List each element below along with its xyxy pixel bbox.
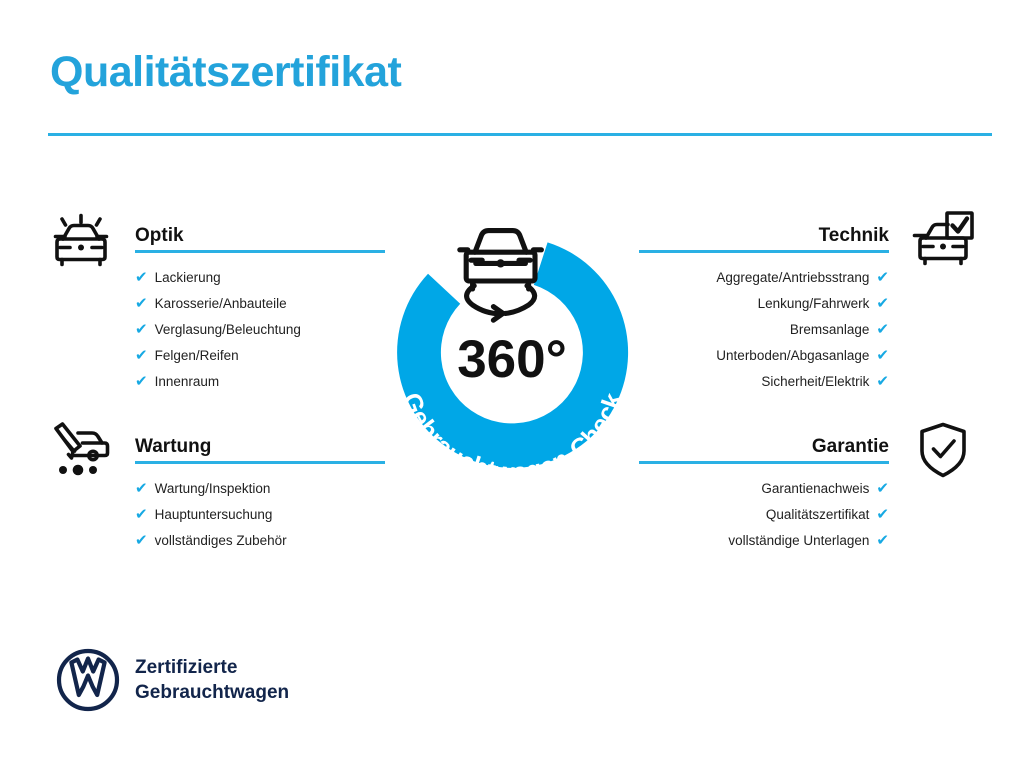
section-optik: Optik✔Lackierung✔Karosserie/Anbauteile✔V… — [48, 209, 413, 395]
check-icon: ✔ — [876, 348, 889, 363]
vw-wordmark-line2: Gebrauchtwagen — [135, 680, 289, 705]
section-title-garantie: Garantie — [812, 436, 889, 458]
list-item-label: Lenkung/Fahrwerk — [758, 297, 870, 311]
section-title-technik: Technik — [819, 225, 889, 247]
check-icon: ✔ — [876, 322, 889, 337]
check-icon: ✔ — [876, 507, 889, 522]
checklist-optik: ✔Lackierung✔Karosserie/Anbauteile✔Vergla… — [48, 264, 413, 395]
check-icon: ✔ — [135, 296, 148, 311]
header-divider — [48, 133, 992, 136]
certificate-page: Qualitätszertifikat Optik✔Lackierung✔Kar… — [0, 0, 1024, 768]
vw-wordmark: Zertifizierte Gebrauchtwagen — [135, 655, 289, 705]
list-item-label: Felgen/Reifen — [155, 349, 239, 363]
list-item-label: Aggregate/Antriebsstrang — [716, 271, 869, 285]
list-item: ✔vollständige Unterlagen — [611, 527, 976, 553]
checklist-garantie: ✔Garantienachweis✔Qualitätszertifikat✔vo… — [611, 475, 976, 554]
check-icon: ✔ — [135, 507, 148, 522]
section-header-garantie: Garantie — [611, 420, 976, 464]
section-title-optik: Optik — [135, 225, 184, 247]
section-divider-wartung — [135, 461, 385, 464]
check-icon: ✔ — [135, 348, 148, 363]
list-item: ✔vollständiges Zubehör — [48, 527, 413, 553]
car-checkbox-icon — [910, 209, 976, 269]
list-item-label: Qualitätszertifikat — [766, 508, 870, 522]
list-item-label: Innenraum — [155, 375, 220, 389]
list-item: ✔Verglasung/Beleuchtung — [48, 316, 413, 342]
car-shine-icon — [48, 209, 114, 269]
list-item-label: Bremsanlage — [790, 323, 870, 337]
list-item: ✔Hauptuntersuchung — [48, 501, 413, 527]
pencil-car-icon — [48, 420, 114, 480]
section-header-wartung: Wartung — [48, 420, 413, 464]
checklist-technik: ✔Aggregate/Antriebsstrang✔Lenkung/Fahrwe… — [611, 264, 976, 395]
list-item-label: Verglasung/Beleuchtung — [155, 323, 301, 337]
section-divider-optik — [135, 250, 385, 253]
list-item-label: Wartung/Inspektion — [155, 482, 271, 496]
check-icon: ✔ — [135, 322, 148, 337]
check-icon: ✔ — [876, 481, 889, 496]
list-item-label: Lackierung — [155, 271, 221, 285]
section-divider-technik — [639, 250, 889, 253]
vw-wordmark-line1: Zertifizierte — [135, 655, 289, 680]
list-item-label: vollständige Unterlagen — [728, 534, 869, 548]
vw-logo — [56, 648, 120, 712]
check-icon: ✔ — [135, 481, 148, 496]
check-icon: ✔ — [876, 374, 889, 389]
check-icon: ✔ — [876, 270, 889, 285]
check-icon: ✔ — [876, 533, 889, 548]
section-wartung: Wartung✔Wartung/Inspektion✔Hauptuntersuc… — [48, 420, 413, 554]
list-item: ✔Bremsanlage — [611, 316, 976, 342]
section-technik: Technik✔Aggregate/Antriebsstrang✔Lenkung… — [611, 209, 976, 395]
list-item-label: Sicherheit/Elektrik — [761, 375, 869, 389]
list-item: ✔Innenraum — [48, 369, 413, 395]
list-item-label: Garantienachweis — [761, 482, 869, 496]
list-item: ✔Lenkung/Fahrwerk — [611, 290, 976, 316]
section-header-technik: Technik — [611, 209, 976, 253]
list-item: ✔Felgen/Reifen — [48, 343, 413, 369]
check-icon: ✔ — [135, 533, 148, 548]
check-icon: ✔ — [135, 374, 148, 389]
page-title: Qualitätszertifikat — [50, 50, 401, 95]
list-item-label: Hauptuntersuchung — [155, 508, 273, 522]
section-garantie: Garantie✔Garantienachweis✔Qualitätszerti… — [611, 420, 976, 554]
list-item: ✔Qualitätszertifikat — [611, 501, 976, 527]
checklist-wartung: ✔Wartung/Inspektion✔Hauptuntersuchung✔vo… — [48, 475, 413, 554]
list-item: ✔Sicherheit/Elektrik — [611, 369, 976, 395]
check-icon: ✔ — [876, 296, 889, 311]
list-item-label: Karosserie/Anbauteile — [155, 297, 287, 311]
section-title-wartung: Wartung — [135, 436, 211, 458]
section-divider-garantie — [639, 461, 889, 464]
list-item-label: vollständiges Zubehör — [155, 534, 287, 548]
list-item-label: Unterboden/Abgasanlage — [716, 349, 869, 363]
360-badge: Gebrauchtwagen-Check 360° — [375, 215, 650, 495]
check-icon: ✔ — [135, 270, 148, 285]
list-item: ✔Karosserie/Anbauteile — [48, 290, 413, 316]
vw-brand-lockup: Zertifizierte Gebrauchtwagen — [56, 648, 289, 712]
list-item: ✔Unterboden/Abgasanlage — [611, 343, 976, 369]
badge-center-label: 360° — [457, 330, 567, 389]
shield-check-icon — [910, 420, 976, 480]
car-rotate-icon — [460, 231, 542, 321]
section-header-optik: Optik — [48, 209, 413, 253]
